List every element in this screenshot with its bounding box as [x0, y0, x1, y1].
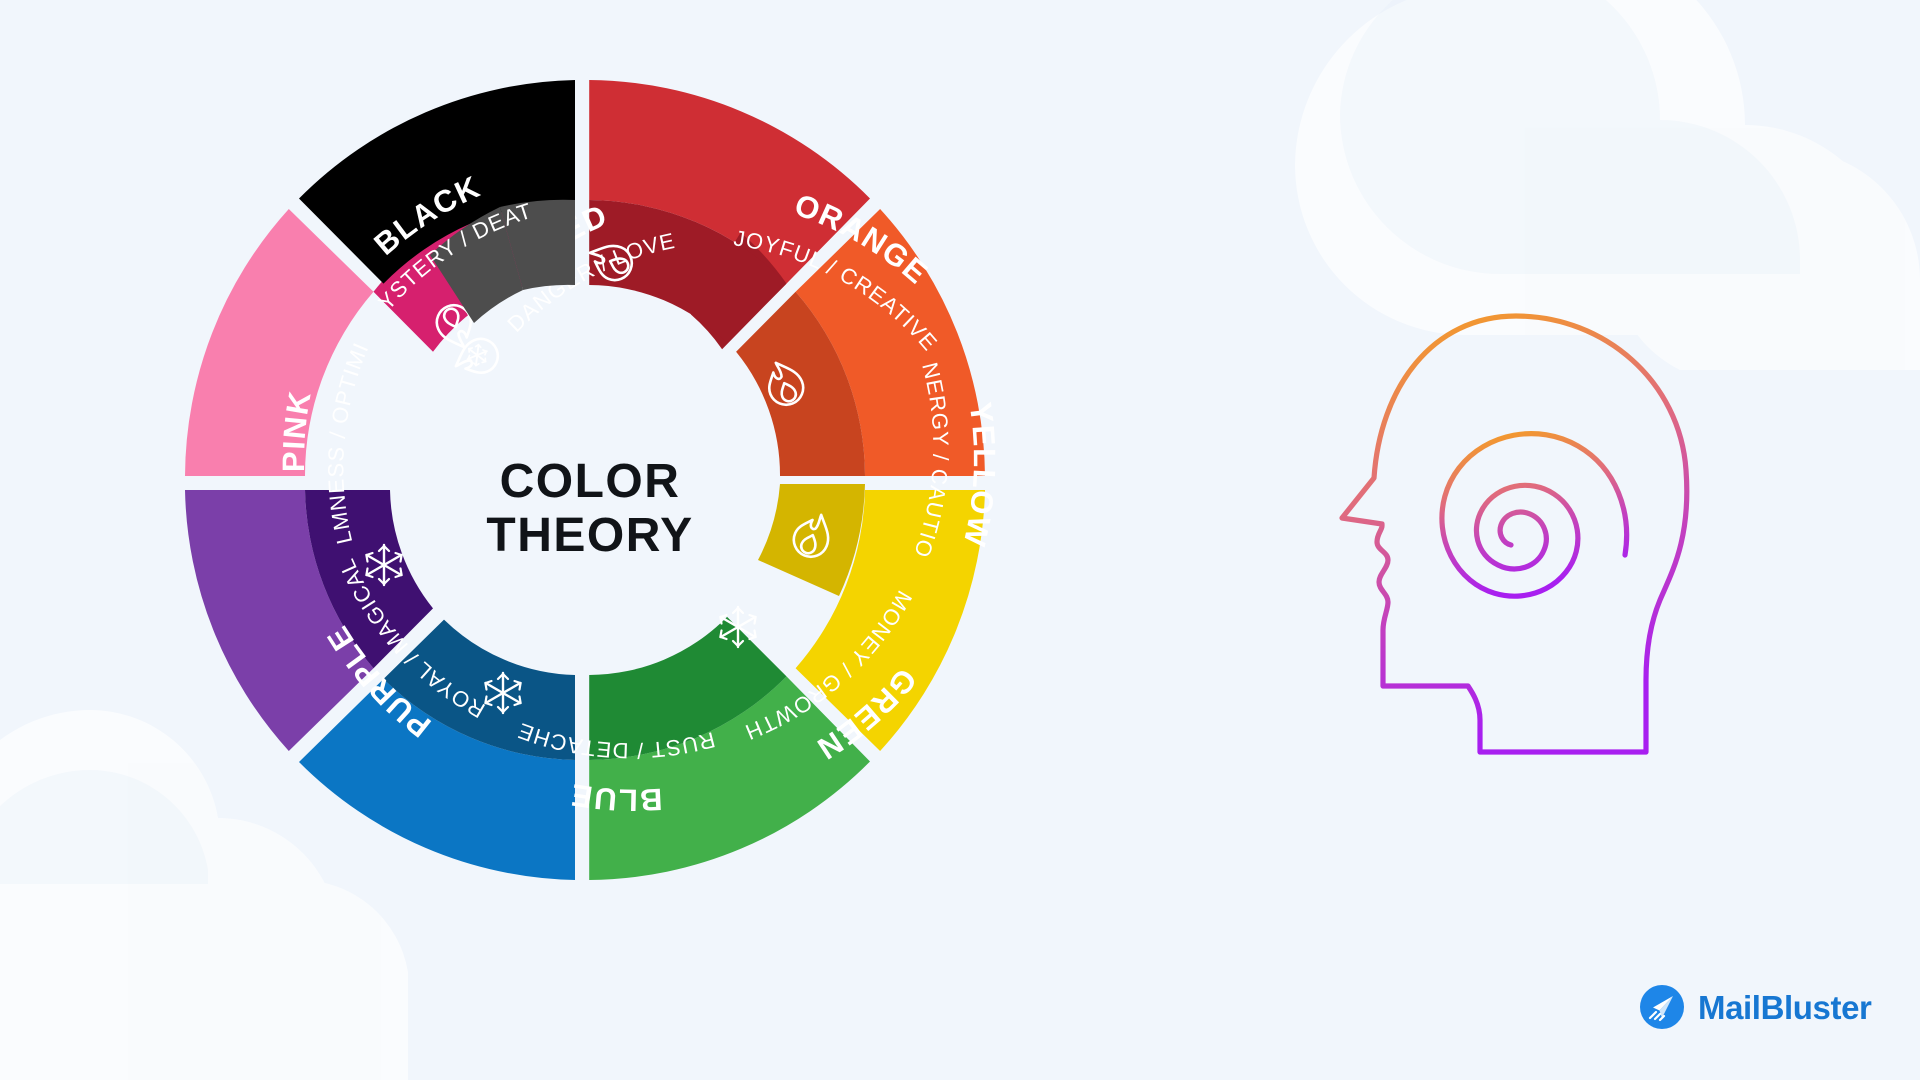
infographic-canvas: RED DANGER / LOVE ORANGE JOYFUL / CR: [0, 0, 1920, 1080]
head-spiral-brain-illustration: [1320, 300, 1720, 780]
center-title-line-1: COLOR: [390, 455, 790, 509]
segment-name-pink: PINK: [276, 388, 318, 472]
mailbluster-mark-icon: [1640, 985, 1684, 1029]
spiral-brain: [1442, 434, 1627, 597]
mailbluster-logo[interactable]: MailBluster: [1640, 985, 1871, 1029]
wheel-segments: RED DANGER / LOVE ORANGE JOYFUL / CR: [0, 0, 1002, 880]
center-title-line-2: THEORY: [390, 509, 790, 563]
flame-snowflake-icon: [449, 334, 503, 382]
wheel-center-title: COLOR THEORY: [390, 455, 790, 563]
mailbluster-wordmark: MailBluster: [1698, 991, 1871, 1024]
wheel-segment-green[interactable]: GREEN MONEY / GROWTH: [589, 587, 923, 880]
segment-name-blue: BLUE: [568, 777, 664, 818]
head-outline: [1342, 316, 1687, 752]
